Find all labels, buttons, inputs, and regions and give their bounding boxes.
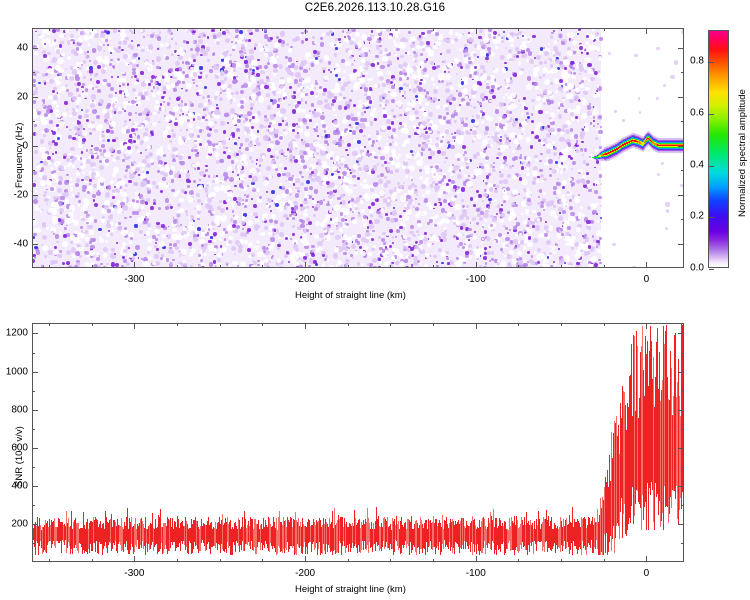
- noise-speckle: [486, 127, 489, 130]
- noise-speckle: [491, 258, 494, 261]
- noise-speckle: [198, 254, 201, 257]
- noise-speckle: [447, 262, 450, 265]
- noise-speckle: [344, 164, 348, 168]
- noise-speckle: [506, 117, 509, 120]
- noise-speckle: [308, 265, 310, 267]
- noise-speckle: [414, 110, 419, 115]
- noise-speckle: [565, 232, 569, 236]
- noise-speckle: [337, 171, 339, 173]
- noise-speckle: [523, 260, 526, 263]
- noise-speckle: [227, 72, 233, 78]
- noise-speckle: [499, 211, 502, 214]
- noise-speckle: [169, 140, 172, 143]
- noise-speckle: [84, 251, 87, 254]
- noise-speckle: [165, 115, 171, 121]
- noise-speckle: [229, 177, 234, 182]
- noise-speckle: [231, 41, 233, 43]
- noise-speckle: [579, 67, 584, 72]
- noise-speckle: [327, 91, 331, 95]
- noise-speckle: [76, 130, 81, 135]
- noise-speckle: [301, 140, 306, 145]
- noise-speckle: [61, 86, 66, 91]
- noise-speckle: [584, 58, 587, 61]
- noise-speckle: [320, 151, 325, 156]
- noise-speckle: [241, 154, 247, 160]
- noise-speckle: [219, 249, 223, 253]
- noise-speckle: [535, 262, 538, 265]
- noise-speckle: [565, 147, 570, 152]
- noise-speckle: [582, 214, 585, 217]
- noise-speckle: [463, 123, 468, 128]
- noise-speckle: [169, 244, 171, 246]
- noise-speckle: [247, 228, 251, 232]
- noise-speckle: [291, 95, 294, 98]
- noise-speckle: [593, 40, 595, 42]
- noise-speckle: [405, 175, 408, 178]
- noise-speckle: [72, 96, 77, 101]
- noise-speckle: [572, 204, 574, 206]
- noise-speckle: [570, 112, 574, 116]
- noise-speckle: [214, 152, 219, 157]
- noise-speckle: [571, 184, 574, 187]
- noise-speckle: [240, 261, 246, 267]
- noise-speckle: [353, 184, 357, 188]
- noise-speckle: [508, 49, 512, 53]
- noise-speckle: [598, 196, 601, 199]
- noise-speckle: [220, 121, 225, 126]
- noise-speckle: [297, 101, 301, 105]
- noise-speckle: [252, 116, 255, 119]
- noise-speckle: [548, 60, 550, 62]
- noise-speckle: [38, 82, 41, 85]
- noise-speckle: [174, 173, 179, 178]
- noise-speckle: [552, 169, 557, 174]
- noise-speckle: [543, 47, 545, 49]
- noise-speckle: [596, 240, 599, 243]
- noise-speckle: [448, 71, 450, 73]
- noise-speckle: [376, 45, 378, 47]
- noise-speckle: [328, 225, 330, 227]
- noise-speckle: [433, 255, 436, 258]
- noise-speckle: [34, 180, 36, 182]
- noise-speckle: [76, 88, 79, 91]
- noise-speckle: [147, 256, 151, 260]
- noise-speckle: [411, 266, 414, 267]
- noise-speckle: [180, 47, 183, 50]
- noise-speckle: [92, 169, 94, 171]
- noise-speckle: [309, 119, 312, 122]
- noise-speckle: [313, 165, 316, 168]
- noise-speckle: [103, 44, 105, 46]
- noise-speckle: [89, 150, 93, 154]
- noise-speckle: [53, 95, 57, 99]
- noise-speckle: [67, 164, 70, 167]
- noise-speckle: [276, 55, 279, 58]
- noise-speckle: [345, 128, 348, 131]
- noise-speckle: [374, 118, 377, 121]
- noise-speckle: [526, 84, 532, 90]
- noise-speckle: [84, 114, 88, 118]
- noise-speckle: [64, 101, 67, 104]
- noise-speckle: [65, 68, 67, 70]
- noise-speckle: [322, 164, 327, 169]
- noise-speckle: [141, 163, 145, 167]
- noise-speckle: [173, 219, 177, 223]
- noise-speckle: [264, 218, 267, 221]
- noise-speckle: [578, 248, 580, 250]
- noise-speckle: [527, 38, 530, 41]
- noise-speckle: [385, 213, 388, 216]
- noise-speckle: [302, 80, 306, 84]
- noise-speckle: [55, 234, 59, 238]
- noise-speckle: [528, 236, 532, 240]
- noise-speckle: [546, 240, 551, 245]
- noise-speckle: [211, 29, 214, 32]
- noise-speckle: [361, 263, 364, 266]
- noise-speckle: [182, 106, 188, 112]
- noise-speckle: [504, 255, 506, 257]
- noise-speckle: [599, 262, 601, 264]
- noise-speckle: [220, 92, 222, 94]
- noise-speckle: [536, 179, 539, 182]
- noise-speckle: [172, 259, 174, 261]
- noise-speckle: [414, 132, 417, 135]
- noise-speckle: [305, 101, 307, 103]
- noise-speckle: [142, 111, 147, 116]
- noise-speckle: [419, 169, 422, 172]
- noise-speckle: [44, 191, 47, 194]
- noise-speckle: [140, 173, 146, 179]
- noise-speckle: [83, 203, 89, 209]
- spectrogram-plot-area[interactable]: [32, 28, 684, 268]
- noise-speckle: [574, 134, 578, 138]
- noise-speckle: [85, 243, 89, 247]
- noise-speckle: [36, 109, 39, 112]
- noise-speckle: [470, 234, 472, 236]
- noise-speckle: [121, 192, 126, 197]
- noise-speckle: [405, 139, 410, 144]
- noise-speckle: [150, 206, 154, 210]
- noise-speckle: [95, 86, 97, 88]
- noise-speckle: [527, 242, 532, 247]
- noise-speckle: [213, 239, 216, 242]
- noise-speckle: [593, 109, 599, 115]
- noise-speckle: [197, 210, 201, 214]
- noise-speckle: [433, 216, 436, 219]
- noise-speckle: [362, 185, 366, 189]
- noise-speckle: [103, 247, 108, 252]
- noise-speckle: [348, 247, 350, 249]
- noise-speckle: [586, 180, 590, 184]
- noise-speckle: [436, 105, 440, 109]
- noise-speckle: [566, 93, 572, 99]
- noise-speckle: [430, 184, 433, 187]
- noise-speckle: [435, 32, 439, 36]
- noise-speckle: [198, 185, 203, 190]
- noise-speckle: [288, 177, 292, 181]
- noise-speckle: [129, 119, 131, 121]
- noise-speckle: [345, 219, 347, 221]
- noise-speckle: [371, 202, 375, 206]
- noise-speckle: [90, 254, 92, 256]
- noise-speckle: [280, 108, 286, 114]
- noise-speckle: [252, 176, 257, 181]
- noise-speckle: [546, 149, 551, 154]
- noise-speckle: [468, 57, 471, 60]
- noise-speckle: [597, 73, 602, 78]
- noise-speckle: [562, 105, 564, 107]
- noise-speckle: [42, 104, 45, 107]
- noise-speckle: [270, 136, 273, 139]
- noise-speckle: [156, 56, 162, 62]
- noise-speckle: [383, 183, 388, 188]
- noise-speckle: [419, 176, 422, 179]
- noise-speckle: [211, 192, 216, 197]
- noise-speckle: [57, 58, 63, 64]
- noise-speckle: [215, 145, 219, 149]
- noise-speckle: [83, 128, 85, 130]
- noise-speckle: [340, 212, 343, 215]
- noise-speckle: [585, 128, 589, 132]
- noise-speckle: [415, 207, 419, 211]
- noise-speckle: [595, 137, 598, 140]
- noise-speckle: [76, 172, 80, 176]
- noise-speckle: [451, 40, 455, 44]
- noise-speckle: [540, 153, 542, 155]
- noise-speckle: [311, 63, 315, 67]
- noise-speckle: [584, 234, 587, 237]
- noise-speckle: [539, 76, 542, 79]
- noise-speckle: [421, 211, 426, 216]
- noise-speckle: [52, 153, 54, 155]
- noise-speckle: [124, 175, 127, 178]
- noise-speckle: [361, 112, 365, 116]
- noise-speckle: [245, 147, 249, 151]
- noise-speckle: [309, 167, 312, 170]
- noise-speckle: [431, 145, 436, 150]
- noise-speckle: [581, 141, 583, 143]
- noise-speckle: [373, 266, 376, 267]
- noise-speckle: [447, 96, 452, 101]
- noise-speckle: [61, 53, 64, 56]
- noise-speckle: [466, 216, 470, 220]
- noise-speckle: [580, 134, 584, 138]
- noise-speckle: [59, 255, 62, 258]
- noise-speckle: [515, 234, 517, 236]
- noise-speckle: [99, 238, 104, 243]
- noise-speckle: [258, 266, 262, 267]
- noise-speckle: [110, 107, 113, 110]
- noise-speckle: [43, 134, 45, 136]
- noise-speckle: [465, 130, 469, 134]
- noise-speckle: [487, 251, 491, 255]
- noise-speckle: [288, 200, 292, 204]
- noise-speckle: [552, 68, 557, 73]
- noise-speckle: [447, 199, 450, 202]
- noise-speckle: [441, 262, 444, 265]
- noise-speckle: [51, 171, 54, 174]
- noise-speckle: [134, 224, 137, 227]
- noise-speckle: [132, 134, 135, 137]
- noise-speckle: [201, 203, 203, 205]
- noise-speckle: [543, 178, 546, 181]
- noise-speckle: [205, 169, 208, 172]
- noise-speckle: [291, 69, 294, 72]
- noise-speckle: [125, 184, 128, 187]
- noise-speckle: [98, 50, 100, 52]
- noise-speckle: [257, 260, 260, 263]
- noise-speckle: [81, 151, 83, 153]
- noise-speckle: [137, 150, 140, 153]
- noise-speckle: [116, 156, 120, 160]
- noise-speckle: [364, 111, 366, 113]
- noise-speckle: [141, 95, 145, 99]
- noise-speckle: [266, 93, 270, 97]
- noise-speckle: [186, 173, 191, 178]
- noise-speckle: [232, 63, 236, 67]
- noise-speckle: [421, 32, 425, 36]
- noise-speckle: [256, 73, 259, 76]
- noise-speckle: [197, 167, 199, 169]
- noise-speckle: [472, 115, 474, 117]
- noise-speckle: [288, 104, 291, 107]
- noise-speckle: [213, 248, 217, 252]
- noise-speckle: [240, 114, 242, 116]
- noise-speckle: [35, 133, 38, 136]
- noise-speckle: [148, 239, 152, 243]
- noise-speckle: [44, 198, 48, 202]
- noise-speckle: [93, 199, 96, 202]
- noise-speckle: [370, 188, 374, 192]
- noise-speckle: [219, 238, 222, 241]
- noise-speckle: [377, 62, 380, 65]
- noise-speckle: [128, 156, 131, 159]
- noise-speckle: [471, 119, 475, 123]
- noise-speckle: [89, 179, 92, 182]
- noise-speckle: [77, 192, 81, 196]
- noise-speckle: [106, 129, 110, 133]
- noise-speckle: [454, 204, 460, 210]
- noise-speckle: [306, 218, 309, 221]
- noise-speckle: [453, 235, 456, 238]
- noise-speckle: [412, 234, 414, 236]
- noise-speckle: [101, 144, 105, 148]
- noise-speckle: [275, 203, 279, 207]
- noise-speckle: [379, 261, 382, 264]
- noise-speckle: [47, 52, 50, 55]
- noise-speckle: [531, 131, 534, 134]
- noise-speckle: [464, 157, 468, 161]
- noise-speckle: [216, 175, 218, 177]
- noise-speckle: [245, 138, 248, 141]
- noise-speckle: [110, 115, 113, 118]
- noise-speckle: [155, 238, 158, 241]
- noise-speckle: [303, 213, 307, 217]
- figure-canvas: C2E6.2026.113.10.28.G16 -40-2002040-300-…: [0, 0, 750, 600]
- noise-speckle: [409, 165, 415, 171]
- noise-speckle: [312, 249, 315, 252]
- noise-speckle: [459, 242, 463, 246]
- noise-speckle: [103, 253, 108, 258]
- noise-speckle: [365, 61, 370, 66]
- noise-speckle: [566, 265, 571, 267]
- noise-speckle: [414, 80, 418, 84]
- noise-speckle: [430, 166, 433, 169]
- noise-speckle: [285, 124, 288, 127]
- noise-speckle: [118, 41, 122, 45]
- noise-speckle: [360, 87, 362, 89]
- noise-speckle: [574, 95, 579, 100]
- noise-speckle: [416, 152, 421, 157]
- noise-speckle: [561, 180, 567, 186]
- noise-speckle: [586, 35, 589, 38]
- noise-speckle: [93, 264, 98, 267]
- noise-speckle: [328, 106, 331, 109]
- noise-speckle: [251, 134, 257, 140]
- noise-speckle: [548, 43, 550, 45]
- noise-speckle: [279, 232, 284, 237]
- noise-speckle: [364, 239, 369, 244]
- noise-speckle: [455, 261, 461, 267]
- noise-speckle: [273, 64, 278, 69]
- noise-speckle: [493, 184, 496, 187]
- noise-speckle: [389, 229, 393, 233]
- noise-speckle: [550, 35, 553, 38]
- noise-speckle: [349, 169, 351, 171]
- noise-speckle: [188, 242, 192, 246]
- noise-speckle: [343, 252, 347, 256]
- noise-speckle: [68, 212, 74, 218]
- noise-speckle: [370, 111, 376, 117]
- noise-speckle: [295, 36, 300, 41]
- noise-speckle: [329, 210, 332, 213]
- noise-speckle: [468, 244, 471, 247]
- noise-speckle: [315, 123, 317, 125]
- noise-speckle: [446, 112, 449, 115]
- noise-speckle: [580, 150, 582, 152]
- noise-speckle: [206, 155, 210, 159]
- noise-speckle: [416, 117, 418, 119]
- noise-speckle: [520, 154, 522, 156]
- noise-speckle: [317, 201, 319, 203]
- noise-speckle: [269, 219, 273, 223]
- noise-speckle: [383, 114, 386, 117]
- noise-speckle: [358, 167, 362, 171]
- noise-speckle: [310, 91, 314, 95]
- noise-speckle: [159, 31, 161, 33]
- noise-speckle: [197, 227, 201, 231]
- noise-speckle: [151, 133, 154, 136]
- noise-speckle: [114, 111, 117, 114]
- noise-speckle: [376, 29, 380, 33]
- noise-speckle: [165, 164, 169, 168]
- noise-speckle: [550, 82, 553, 85]
- noise-speckle: [460, 66, 462, 68]
- noise-speckle: [472, 130, 477, 135]
- noise-speckle: [579, 84, 583, 88]
- noise-speckle: [334, 53, 338, 57]
- noise-speckle: [559, 212, 561, 214]
- noise-speckle: [280, 201, 285, 206]
- noise-speckle: [237, 165, 242, 170]
- noise-speckle: [203, 34, 206, 37]
- noise-speckle: [407, 51, 411, 55]
- noise-speckle: [335, 47, 338, 50]
- noise-speckle: [158, 121, 160, 123]
- noise-speckle: [141, 125, 144, 128]
- noise-speckle: [34, 205, 40, 211]
- noise-speckle: [420, 157, 423, 160]
